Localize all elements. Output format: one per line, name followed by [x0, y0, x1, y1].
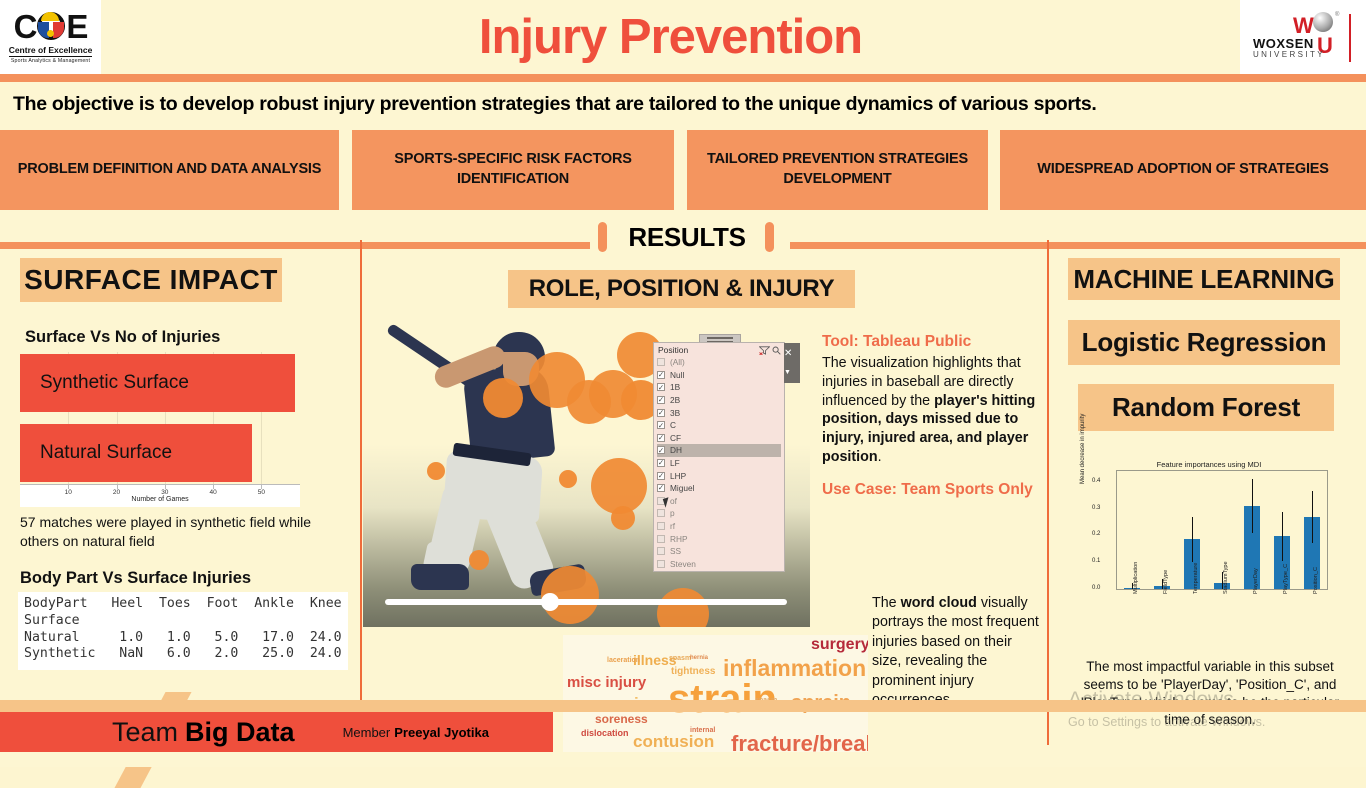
coe-letter-e: E: [66, 10, 87, 43]
pillar-card-4: WIDESPREAD ADOPTION OF STRATEGIES: [1000, 130, 1366, 210]
filter-item-cf[interactable]: CF: [657, 432, 781, 445]
tool-text-block: Tool: Tableau Public The visualization h…: [822, 333, 1040, 500]
checkbox[interactable]: [657, 396, 665, 404]
table-row: Synthetic NaN 6.0 2.0 25.0 24.0: [24, 646, 342, 663]
filter-item-label: p: [670, 508, 675, 518]
word-cloud-term: surgery: [811, 637, 868, 653]
model-card-logistic-regression: Logistic Regression: [1068, 320, 1340, 365]
injury-marker[interactable]: [483, 378, 523, 418]
filter-item-label: Miguel: [670, 483, 694, 493]
filter-item-lf[interactable]: LF: [657, 457, 781, 470]
x-tick-label: PlayerDay: [1253, 568, 1259, 594]
checkbox[interactable]: [657, 472, 665, 480]
injury-marker[interactable]: [567, 380, 611, 424]
x-tick-label: Temperature: [1193, 563, 1199, 594]
filter-item-rf[interactable]: rf: [657, 520, 781, 533]
bodypart-table: BodyPart Heel Toes Foot Ankle Knee Surfa…: [18, 592, 348, 670]
team-name: Big Data: [185, 717, 295, 748]
filter-item-of[interactable]: of: [657, 495, 781, 508]
checkbox[interactable]: [657, 409, 665, 417]
checkbox[interactable]: [657, 560, 665, 568]
axis-tick-label: 30: [161, 489, 168, 496]
y-tick-label: 0.3: [1092, 505, 1100, 511]
coe-letter-c: C: [14, 10, 37, 43]
pillar-card-2: SPORTS-SPECIFIC RISK FACTORS IDENTIFICAT…: [352, 130, 674, 210]
checkbox[interactable]: [657, 535, 665, 543]
footer-stripe: [0, 700, 1366, 712]
filter-item-miguel[interactable]: Miguel: [657, 482, 781, 495]
search-icon[interactable]: [772, 346, 781, 355]
coe-letter-o: [37, 12, 65, 40]
checkbox[interactable]: [657, 358, 665, 366]
timeline-slider-handle[interactable]: [541, 593, 559, 611]
axis-tick-label: 10: [65, 489, 72, 496]
filter-item-label: 2B: [670, 395, 680, 405]
filter-item-label: Steven: [670, 559, 696, 569]
surface-chart-xlabel: Number of Games: [131, 496, 188, 503]
section-header-surface-impact: SURFACE IMPACT: [20, 258, 282, 302]
filter-item-p[interactable]: p: [657, 507, 781, 520]
checkbox[interactable]: [657, 383, 665, 391]
checkbox[interactable]: [657, 421, 665, 429]
filter-item-label: 1B: [670, 382, 680, 392]
divider-line-left: [0, 242, 590, 249]
section-header-machine-learning: MACHINE LEARNING: [1068, 258, 1340, 300]
filter-item-ss[interactable]: SS: [657, 545, 781, 558]
word-cloud-term: laceration: [607, 657, 640, 664]
checkbox[interactable]: [657, 459, 665, 467]
player-shoe-back: [411, 564, 469, 590]
injury-marker[interactable]: [611, 506, 635, 530]
checkbox[interactable]: [657, 371, 665, 379]
filter-item-steven[interactable]: Steven: [657, 558, 781, 571]
surface-chart-plot: Synthetic SurfaceNatural Surface: [20, 352, 317, 484]
filter-item-1b[interactable]: 1B: [657, 381, 781, 394]
woxsen-name: WOXSEN: [1253, 36, 1314, 51]
word-cloud-term: inflammation: [723, 657, 866, 680]
feature-importance-title: Feature importances using MDI: [1078, 460, 1340, 469]
divider-cap-left: [598, 222, 607, 252]
footer-fill: [0, 752, 1366, 767]
filter-item-label: SS: [670, 546, 681, 556]
y-tick-label: 0.0: [1092, 585, 1100, 591]
column-divider-left: [360, 240, 362, 710]
filter-item-null[interactable]: Null: [657, 369, 781, 382]
filter-item-label: RHP: [670, 534, 688, 544]
table-row: Natural 1.0 1.0 5.0 17.0 24.0: [24, 630, 342, 647]
filter-item-all[interactable]: (All): [657, 356, 781, 369]
surface-bar-chart: Synthetic SurfaceNatural Surface Number …: [20, 352, 317, 507]
member-name: Preeyal Jyotika: [394, 725, 489, 740]
word-cloud-term: misc injury: [567, 675, 646, 690]
filter-item-3b[interactable]: 3B: [657, 406, 781, 419]
filter-item-dh[interactable]: DH: [657, 444, 781, 457]
wordcloud-desc-prefix: The: [872, 595, 901, 611]
timeline-slider[interactable]: [385, 599, 787, 605]
checkbox[interactable]: [657, 522, 665, 530]
word-cloud-term: soreness: [595, 713, 648, 725]
wordcloud-description: The word cloud visually portrays the mos…: [872, 594, 1042, 711]
bar-natural-surface: Natural Surface: [20, 424, 252, 482]
y-tick-label: 0.4: [1092, 478, 1100, 484]
results-heading: RESULTS: [612, 220, 762, 254]
coe-logo-mark: C E: [14, 10, 88, 43]
filter-title: Position: [658, 345, 688, 355]
x-tick-label: StadiumType: [1223, 561, 1229, 594]
word-cloud-term: contusion: [633, 733, 714, 750]
wordcloud-desc-bold: word cloud: [901, 595, 977, 611]
woxsen-logo: W ® U WOXSEN UNIVERSITY: [1240, 0, 1366, 74]
injury-marker[interactable]: [427, 462, 445, 480]
section-header-role-position: ROLE, POSITION & INJURY: [508, 270, 855, 308]
tool-description: The visualization highlights that injuri…: [822, 354, 1040, 467]
filter-item-label: Null: [670, 370, 684, 380]
header-divider: [0, 74, 1366, 82]
close-icon[interactable]: ✕: [784, 348, 792, 359]
error-bar: [1282, 512, 1283, 561]
model-card-random-forest: Random Forest: [1078, 384, 1334, 431]
tool-heading: Tool: Tableau Public: [822, 333, 1040, 352]
funnel-icon[interactable]: [759, 346, 770, 355]
poster-header: C E Centre of Excellence Sports Analytic…: [0, 0, 1366, 75]
injury-marker[interactable]: [559, 470, 577, 488]
error-bar: [1312, 491, 1313, 544]
pillar-row: PROBLEM DEFINITION AND DATA ANALYSIS SPO…: [0, 130, 1366, 210]
filter-side-controls[interactable]: ✕ ▼: [784, 343, 800, 383]
injury-marker[interactable]: [469, 550, 489, 570]
filter-header: Position ✕ ▼: [654, 343, 784, 356]
pillar-card-3: TAILORED PREVENTION STRATEGIES DEVELOPME…: [687, 130, 988, 210]
x-tick-label: PlayType_C: [1283, 564, 1289, 594]
woxsen-university: UNIVERSITY: [1253, 50, 1325, 59]
filter-item-label: LF: [670, 458, 680, 468]
filter-item-lhp[interactable]: LHP: [657, 469, 781, 482]
filter-item-c[interactable]: C: [657, 419, 781, 432]
table-header-row: BodyPart Heel Toes Foot Ankle Knee: [24, 596, 342, 613]
checkbox[interactable]: [657, 446, 665, 454]
bar-label: Synthetic Surface: [20, 372, 189, 394]
checkbox[interactable]: [657, 509, 665, 517]
member-label: Member: [343, 725, 391, 740]
usecase-heading: Use Case: Team Sports Only: [822, 481, 1040, 500]
divider: [1349, 14, 1351, 62]
checkbox[interactable]: [657, 547, 665, 555]
feature-importance-ylabel: Mean decrease in impurity: [1080, 414, 1086, 484]
word-cloud-term: tightness: [671, 667, 715, 677]
team-prefix: Team: [112, 717, 178, 748]
divider-cap-right: [765, 222, 774, 252]
woxsen-w: W: [1293, 15, 1314, 37]
position-filter-panel[interactable]: Position ✕ ▼ (All)Null1B2B3BCCFDHLFLHPMi…: [653, 342, 785, 572]
coe-logo: C E Centre of Excellence Sports Analytic…: [0, 0, 101, 74]
coe-subtitle: Centre of Excellence: [9, 45, 93, 57]
wordcloud-desc-rest: visually portrays the most frequent inju…: [872, 595, 1039, 708]
filter-item-label: 3B: [670, 408, 680, 418]
watermark-line-2: Go to Settings to activate Windows.: [1068, 715, 1265, 729]
error-bar: [1252, 479, 1253, 534]
objective-statement: The objective is to develop robust injur…: [0, 82, 1366, 126]
bar-synthetic-surface: Synthetic Surface: [20, 354, 295, 412]
table-index-label: Surface: [24, 613, 342, 630]
checkbox[interactable]: [657, 434, 665, 442]
ball-icon: [1313, 12, 1333, 32]
axis-tick-label: 40: [209, 489, 216, 496]
error-bar: [1192, 517, 1193, 562]
word-cloud-term: dislocation: [581, 729, 629, 738]
x-tick-label: Position_C: [1313, 567, 1319, 594]
word-cloud-term: internal: [690, 727, 715, 734]
filter-item-label: DH: [670, 445, 682, 455]
feature-importance-chart: Feature importances using MDI Mean decre…: [1078, 458, 1340, 640]
filter-item-label: (All): [670, 357, 685, 367]
x-tick-label: FieldType: [1163, 570, 1169, 594]
coe-tagline: Sports Analytics & Management: [11, 58, 90, 64]
x-tick-label: Multiplication: [1133, 562, 1139, 594]
bar-label: Natural Surface: [20, 442, 172, 464]
axis-tick-label: 50: [258, 489, 265, 496]
surface-chart-axis: Number of Games 1020304050: [20, 484, 300, 507]
column-divider-right: [1047, 240, 1049, 745]
surface-chart-title: Surface Vs No of Injuries: [25, 328, 220, 347]
filter-item-label: CF: [670, 433, 681, 443]
tool-description-end: .: [878, 449, 882, 465]
divider-line-right: [790, 242, 1366, 249]
word-cloud-term: hernia: [690, 655, 708, 661]
filter-item-label: LHP: [670, 471, 686, 481]
y-tick-label: 0.2: [1092, 531, 1100, 537]
word-cloud-term: spasm: [669, 655, 691, 662]
caret-down-icon[interactable]: ▼: [784, 369, 791, 376]
bodypart-table-title: Body Part Vs Surface Injuries: [20, 569, 251, 588]
feature-importance-plot: [1116, 470, 1328, 590]
injury-word-cloud: straininflammationfracture/breaksprainco…: [563, 635, 868, 757]
filter-item-label: rf: [670, 521, 675, 531]
page-title: Injury Prevention: [101, 0, 1240, 74]
filter-item-rhp[interactable]: RHP: [657, 532, 781, 545]
surface-note: 57 matches were played in synthetic fiel…: [20, 513, 320, 551]
filter-item-label: C: [670, 420, 676, 430]
y-tick-label: 0.1: [1092, 558, 1100, 564]
pillar-card-1: PROBLEM DEFINITION AND DATA ANALYSIS: [0, 130, 339, 210]
registered-icon: ®: [1335, 12, 1339, 18]
checkbox[interactable]: [657, 484, 665, 492]
filter-item-list[interactable]: (All)Null1B2B3BCCFDHLFLHPMiguelofprfRHPS…: [654, 356, 784, 570]
poster-root: C E Centre of Excellence Sports Analytic…: [0, 0, 1366, 767]
injury-marker[interactable]: [657, 588, 709, 627]
filter-item-2b[interactable]: 2B: [657, 394, 781, 407]
axis-tick-label: 20: [113, 489, 120, 496]
team-banner: Team Big Data Member Preeyal Jyotika: [0, 712, 553, 752]
